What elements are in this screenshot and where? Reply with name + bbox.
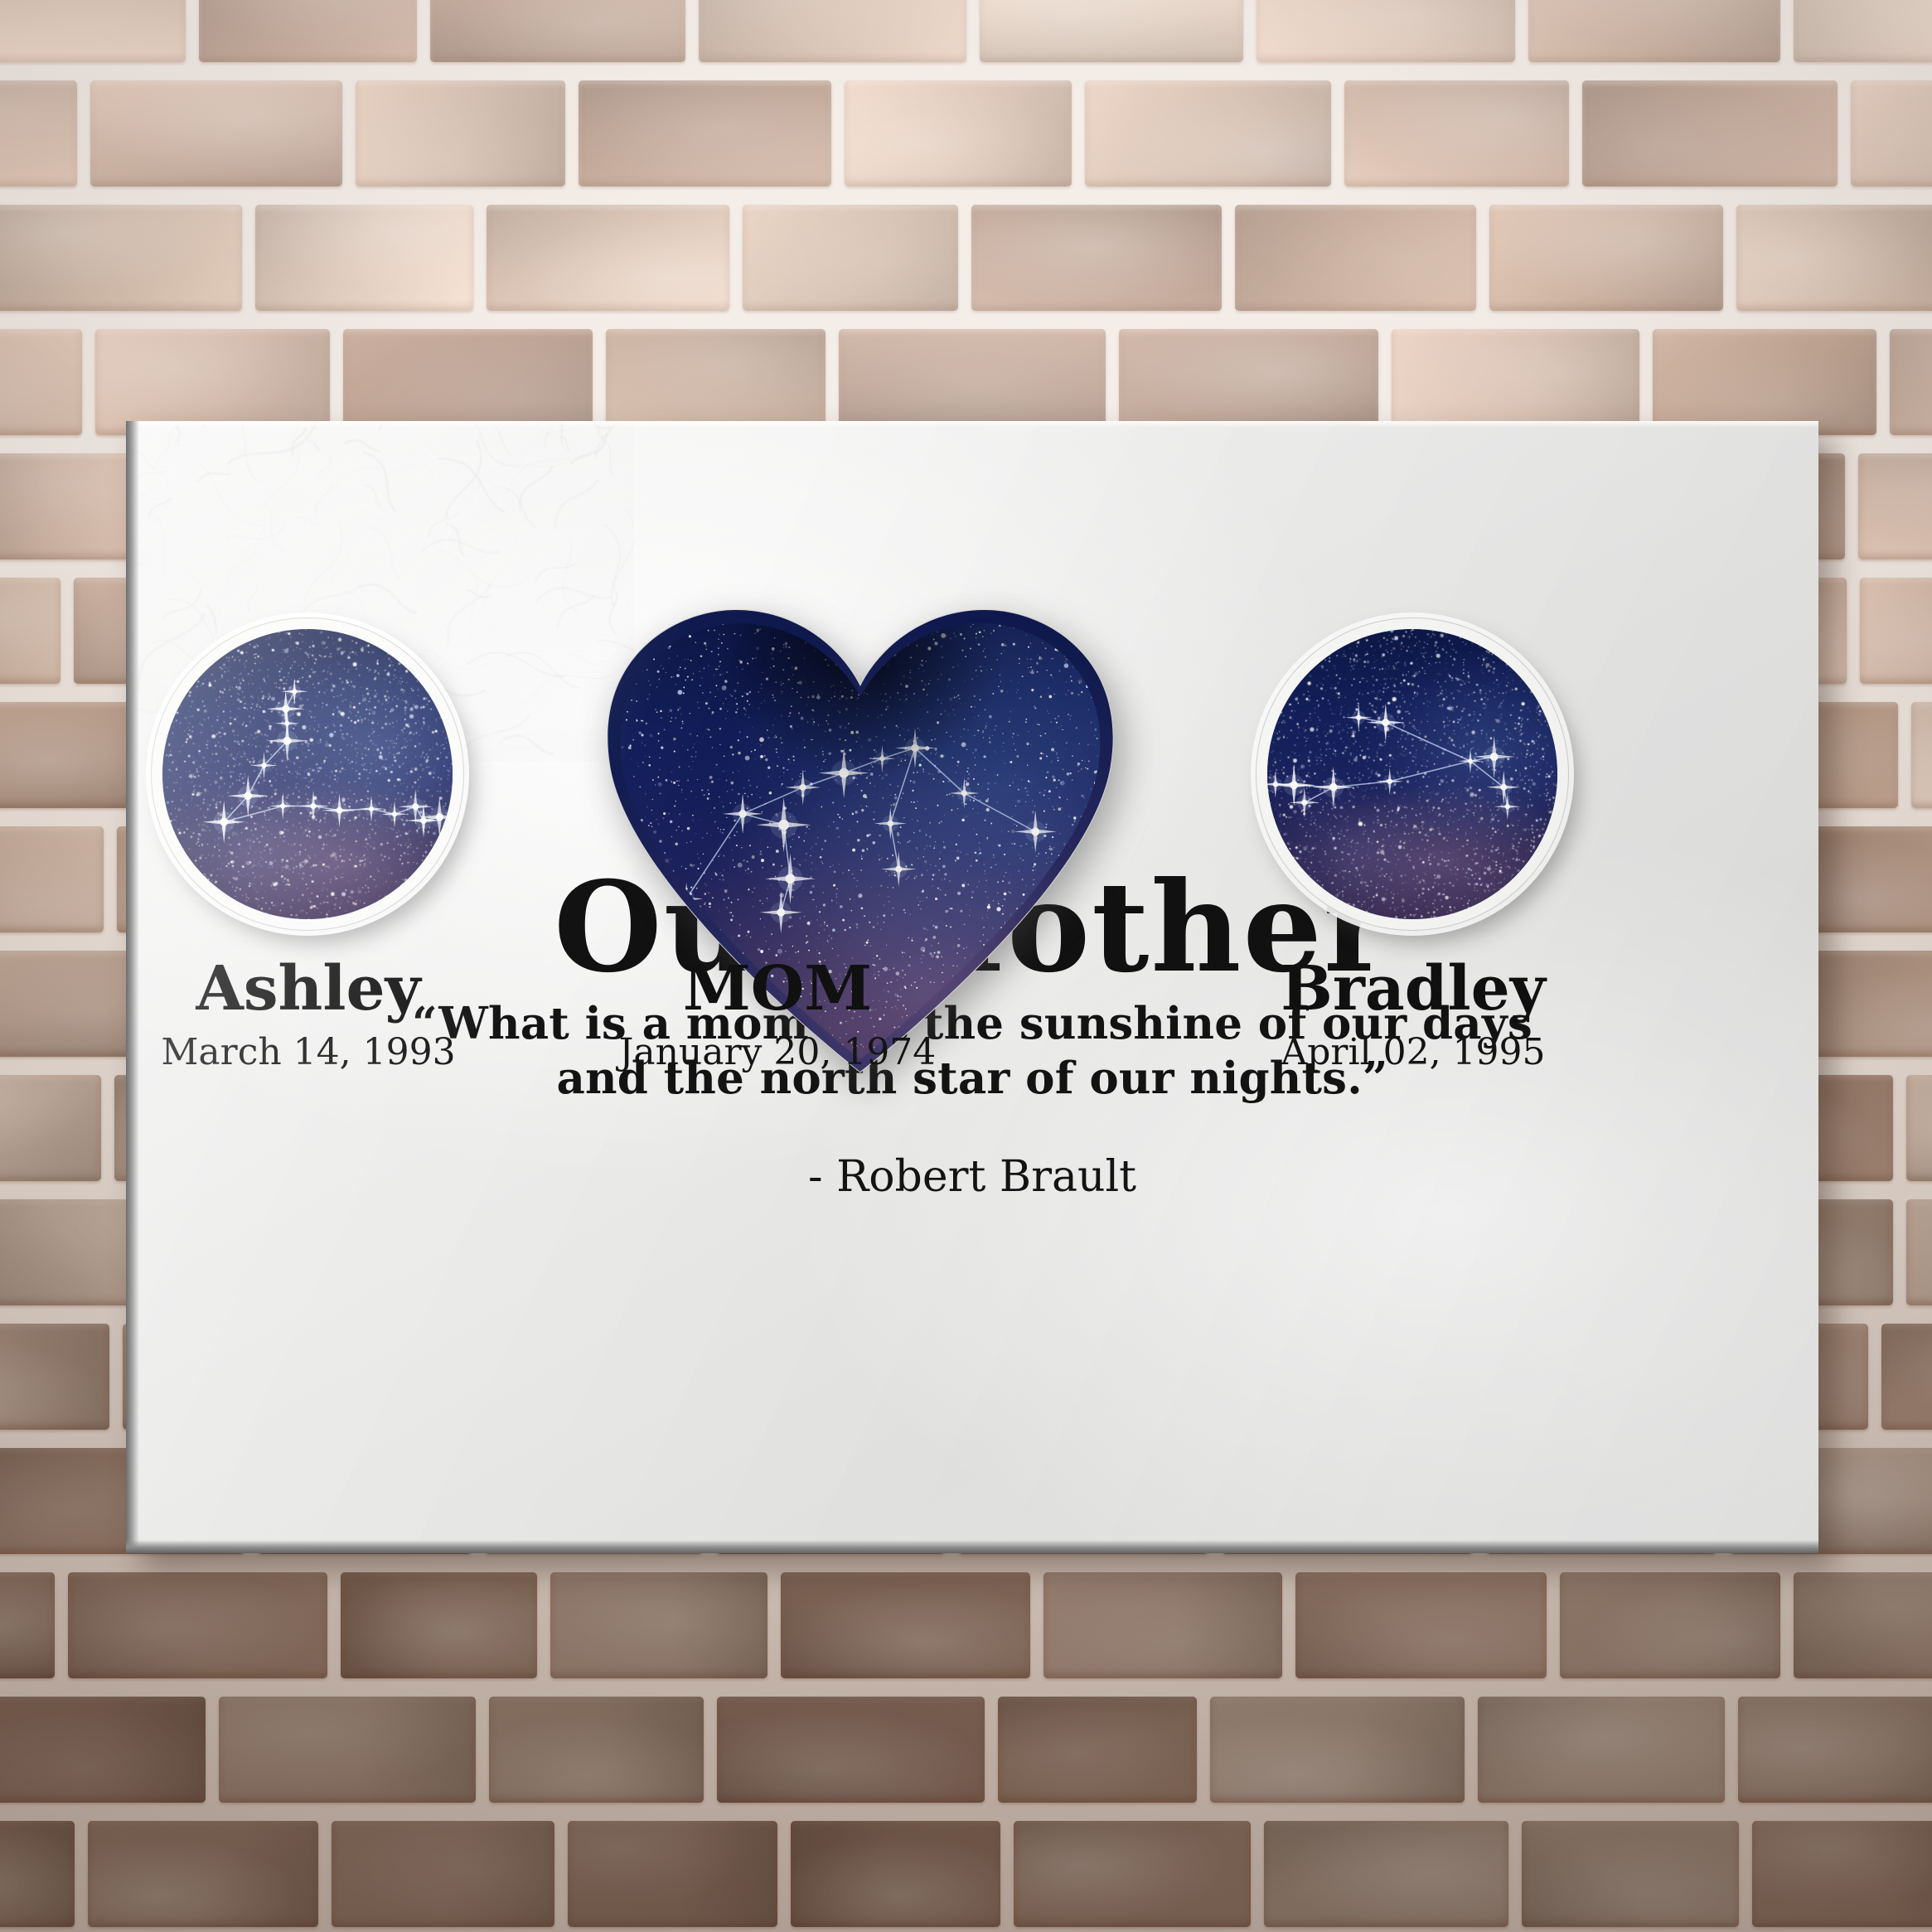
- star-map-window-left[interactable]: [151, 617, 464, 931]
- caption-center: MOM January 20, 1974: [610, 958, 945, 1071]
- panel-date-left: March 14, 1993: [141, 1034, 476, 1071]
- star-map-left-inner: [162, 629, 453, 919]
- star-map-right-inner: [1267, 629, 1557, 919]
- panel-name-center: MOM: [610, 958, 945, 1019]
- constellation-pisces: [162, 629, 453, 919]
- caption-left: Ashley March 14, 1993: [141, 958, 476, 1071]
- quote-author: - Robert Brault: [126, 1155, 1818, 1198]
- panel-name-right: Bradley: [1246, 958, 1581, 1019]
- canvas-print[interactable]: Our Mother “What is a mom but the sunshi…: [126, 421, 1818, 1553]
- panel-date-right: April 02, 1995: [1246, 1034, 1581, 1071]
- canvas-edge-bottom: [126, 1540, 1818, 1553]
- constellation-aries: [1267, 629, 1557, 919]
- panel-name-left: Ashley: [141, 958, 476, 1019]
- wall-scene: Our Mother “What is a mom but the sunshi…: [0, 0, 1932, 1932]
- canvas-edge-left: [126, 421, 139, 1553]
- star-map-window-right[interactable]: [1256, 617, 1569, 931]
- caption-right: Bradley April 02, 1995: [1246, 958, 1581, 1071]
- panel-date-center: January 20, 1974: [610, 1034, 945, 1071]
- canvas-edge-top: [126, 421, 1818, 428]
